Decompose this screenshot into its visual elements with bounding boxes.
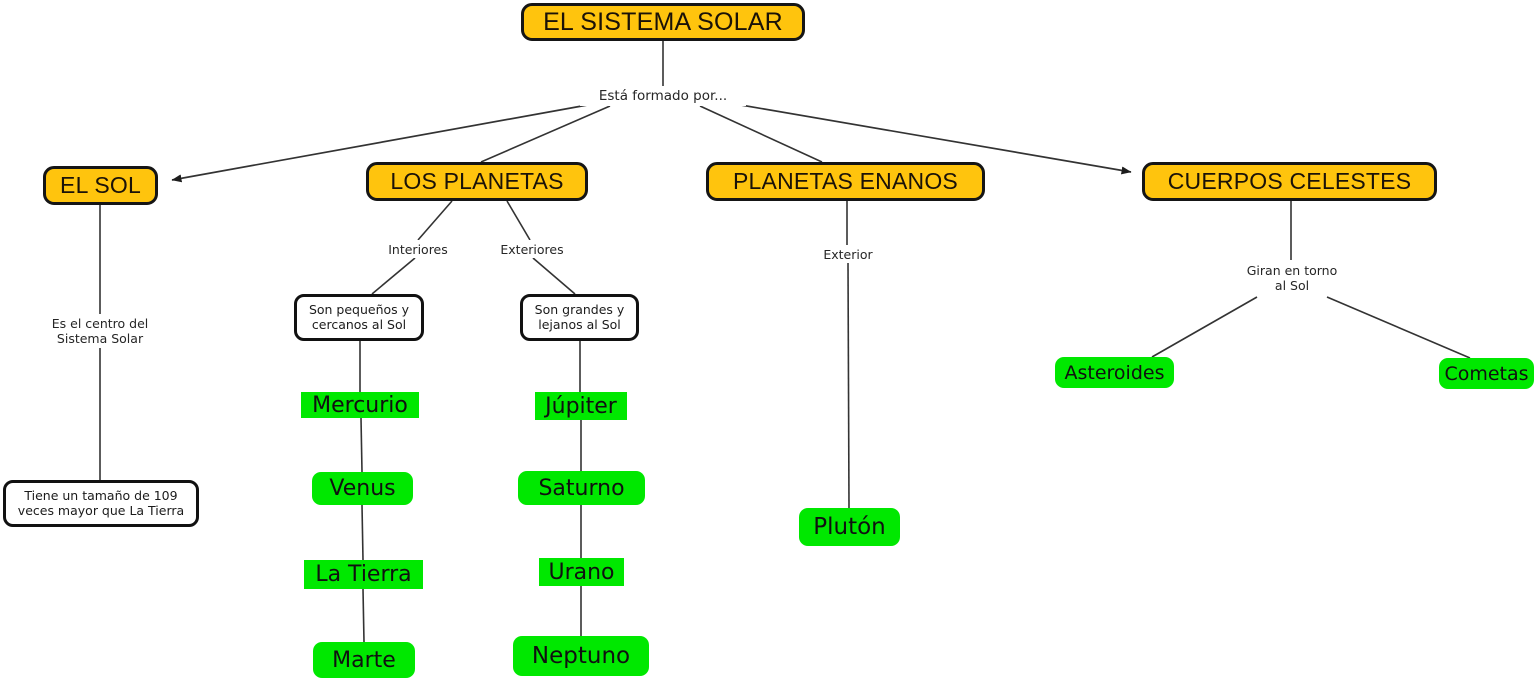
link-label-esta-formado-por: Está formado por... (580, 86, 746, 106)
leaf-urano[interactable]: Urano (539, 558, 624, 586)
description-planetas-interiores: Son pequeños y cercanos al Sol (294, 294, 424, 341)
link-label-interiores: Interiores (378, 240, 458, 258)
leaf-neptuno[interactable]: Neptuno (513, 636, 649, 676)
link-label-exteriores: Exteriores (492, 240, 572, 258)
link-celestes-to-cometas (1327, 297, 1470, 358)
concept-planetas-enanos[interactable]: PLANETAS ENANOS (706, 162, 985, 201)
link-mercurio-to-venus (361, 418, 362, 472)
link-planetas-to-exteriores (507, 201, 530, 240)
description-tamano-del-sol: Tiene un tamaño de 109 veces mayor que L… (3, 480, 199, 527)
leaf-cometas[interactable]: Cometas (1439, 358, 1534, 389)
link-celestes-to-asteroides (1152, 297, 1257, 357)
leaf-saturno[interactable]: Saturno (518, 471, 645, 505)
concept-cuerpos-celestes[interactable]: CUERPOS CELESTES (1142, 162, 1437, 201)
concept-los-planetas[interactable]: LOS PLANETAS (366, 162, 588, 201)
leaf-la-tierra[interactable]: La Tierra (304, 560, 423, 589)
leaf-pluton[interactable]: Plutón (799, 508, 900, 546)
link-planetas-to-interiores (418, 201, 452, 240)
description-planetas-exteriores: Son grandes y lejanos al Sol (520, 294, 639, 341)
leaf-venus[interactable]: Venus (312, 472, 413, 505)
leaf-mercurio[interactable]: Mercurio (301, 392, 419, 418)
connector-layer (0, 0, 1536, 685)
link-interiores-to-desc (372, 258, 415, 294)
concept-map-canvas: EL SISTEMA SOLAR Está formado por... EL … (0, 0, 1536, 685)
leaf-asteroides[interactable]: Asteroides (1055, 357, 1174, 388)
concept-el-sol[interactable]: EL SOL (43, 166, 158, 205)
link-label-giran-en-torno-al-sol: Giran en torno al Sol (1231, 261, 1353, 295)
link-venus-to-tierra (362, 505, 363, 560)
root-concept-el-sistema-solar[interactable]: EL SISTEMA SOLAR (521, 3, 805, 41)
link-tierra-to-marte (363, 589, 364, 642)
link-hub-to-enanos (700, 106, 822, 162)
link-label-exterior: Exterior (808, 245, 888, 263)
link-exteriores-to-desc (533, 258, 575, 294)
link-label-es-el-centro-del-sistema-solar: Es el centro del Sistema Solar (30, 314, 170, 348)
link-hub-to-planetas (481, 106, 610, 162)
link-label-to-pluton (848, 262, 849, 508)
leaf-jupiter[interactable]: Júpiter (535, 392, 627, 420)
leaf-marte[interactable]: Marte (313, 642, 415, 678)
